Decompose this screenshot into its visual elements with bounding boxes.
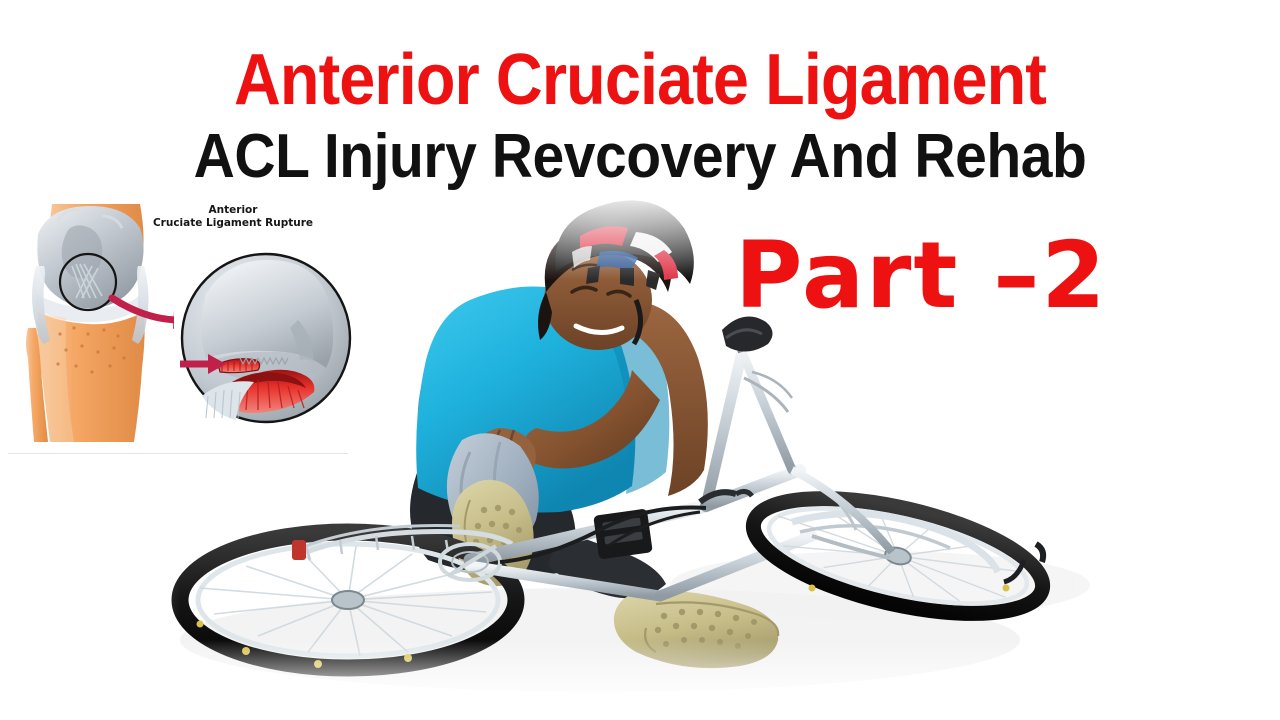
acl-anatomy-illustration: Anterior Cruciate Ligament Rupture bbox=[8, 192, 348, 454]
part-badge: Part –2 bbox=[735, 228, 1107, 324]
headline-line-2: ACL Injury Revcovery And Rehab bbox=[51, 126, 1229, 188]
acl-rupture-inset bbox=[180, 240, 352, 436]
headline-line-1: Anterior Cruciate Ligament bbox=[64, 44, 1216, 116]
photo-fade-bottom bbox=[0, 640, 1280, 720]
thumbnail-canvas: Anterior Cruciate Ligament Rupture bbox=[0, 0, 1280, 720]
knee-joint-diagram bbox=[14, 200, 174, 450]
